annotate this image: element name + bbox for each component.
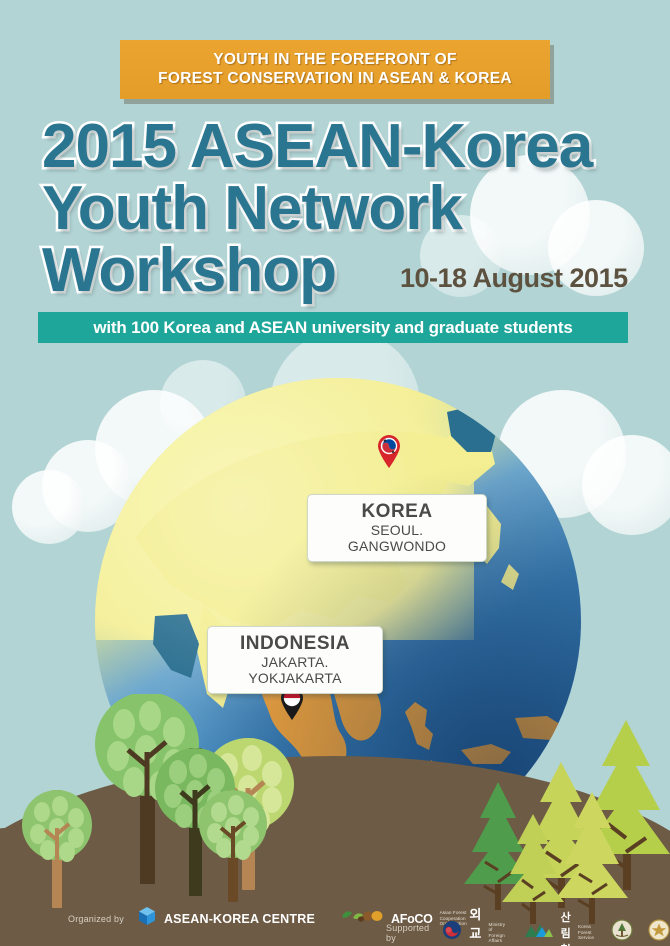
title-line-2: Youth Network (42, 178, 642, 240)
emblem-green-logo-icon[interactable] (611, 919, 633, 946)
poster-root: KOREA SEOUL. GANGWONDO INDONESIA JAKARTA… (0, 0, 670, 946)
supported-by-group: Supported by 외교부 Ministry of Foreign Aff… (386, 904, 670, 946)
supported-by-label: Supported by (386, 923, 429, 943)
supporter-subtitle: Ministry of Foreign Affairs (489, 922, 507, 944)
event-dates: 10-18 August 2015 (400, 263, 628, 294)
supporter-name: 외교부 (469, 904, 481, 946)
asean-korea-centre-cube-logo-icon[interactable] (137, 906, 157, 931)
banner-line-1: YOUTH IN THE FOREFRONT OF (120, 50, 550, 69)
afoco-leaf-logo-icon[interactable] (340, 908, 384, 929)
map-label-cities: JAKARTA. YOKJAKARTA (222, 654, 368, 686)
map-label-indonesia[interactable]: INDONESIA JAKARTA. YOKJAKARTA (207, 626, 383, 694)
footer: Organized by ASEAN-KOREA CENTRE AF (0, 890, 670, 946)
organizer-name: ASEAN-KOREA CENTRE (164, 912, 315, 926)
mofa-korea-logo-icon[interactable] (442, 920, 462, 945)
subtitle-bar: with 100 Korea and ASEAN university and … (38, 312, 628, 343)
banner-line-2: FOREST CONSERVATION IN ASEAN & KOREA (120, 69, 550, 88)
map-label-country: KOREA (322, 501, 472, 522)
map-label-korea[interactable]: KOREA SEOUL. GANGWONDO (307, 494, 487, 562)
map-label-cities: SEOUL. GANGWONDO (322, 522, 472, 554)
deciduous-tree-icon (195, 790, 271, 902)
south-korea-flag-pin-icon (376, 434, 402, 468)
supporter-subtitle: Korea Forest Service (578, 924, 594, 940)
header-banner: YOUTH IN THE FOREFRONT OF FOREST CONSERV… (120, 40, 550, 99)
korea-forest-service-logo-icon[interactable] (524, 922, 554, 943)
cloud-icon (12, 470, 86, 544)
title-line-1: 2015 ASEAN-Korea (42, 116, 642, 178)
map-label-country: INDONESIA (222, 633, 368, 654)
subtitle-text: with 100 Korea and ASEAN university and … (93, 318, 572, 338)
emblem-gold-logo-icon[interactable] (648, 919, 670, 946)
supporter-name: 산림청 (561, 909, 571, 946)
organized-by-label: Organized by (68, 914, 124, 924)
